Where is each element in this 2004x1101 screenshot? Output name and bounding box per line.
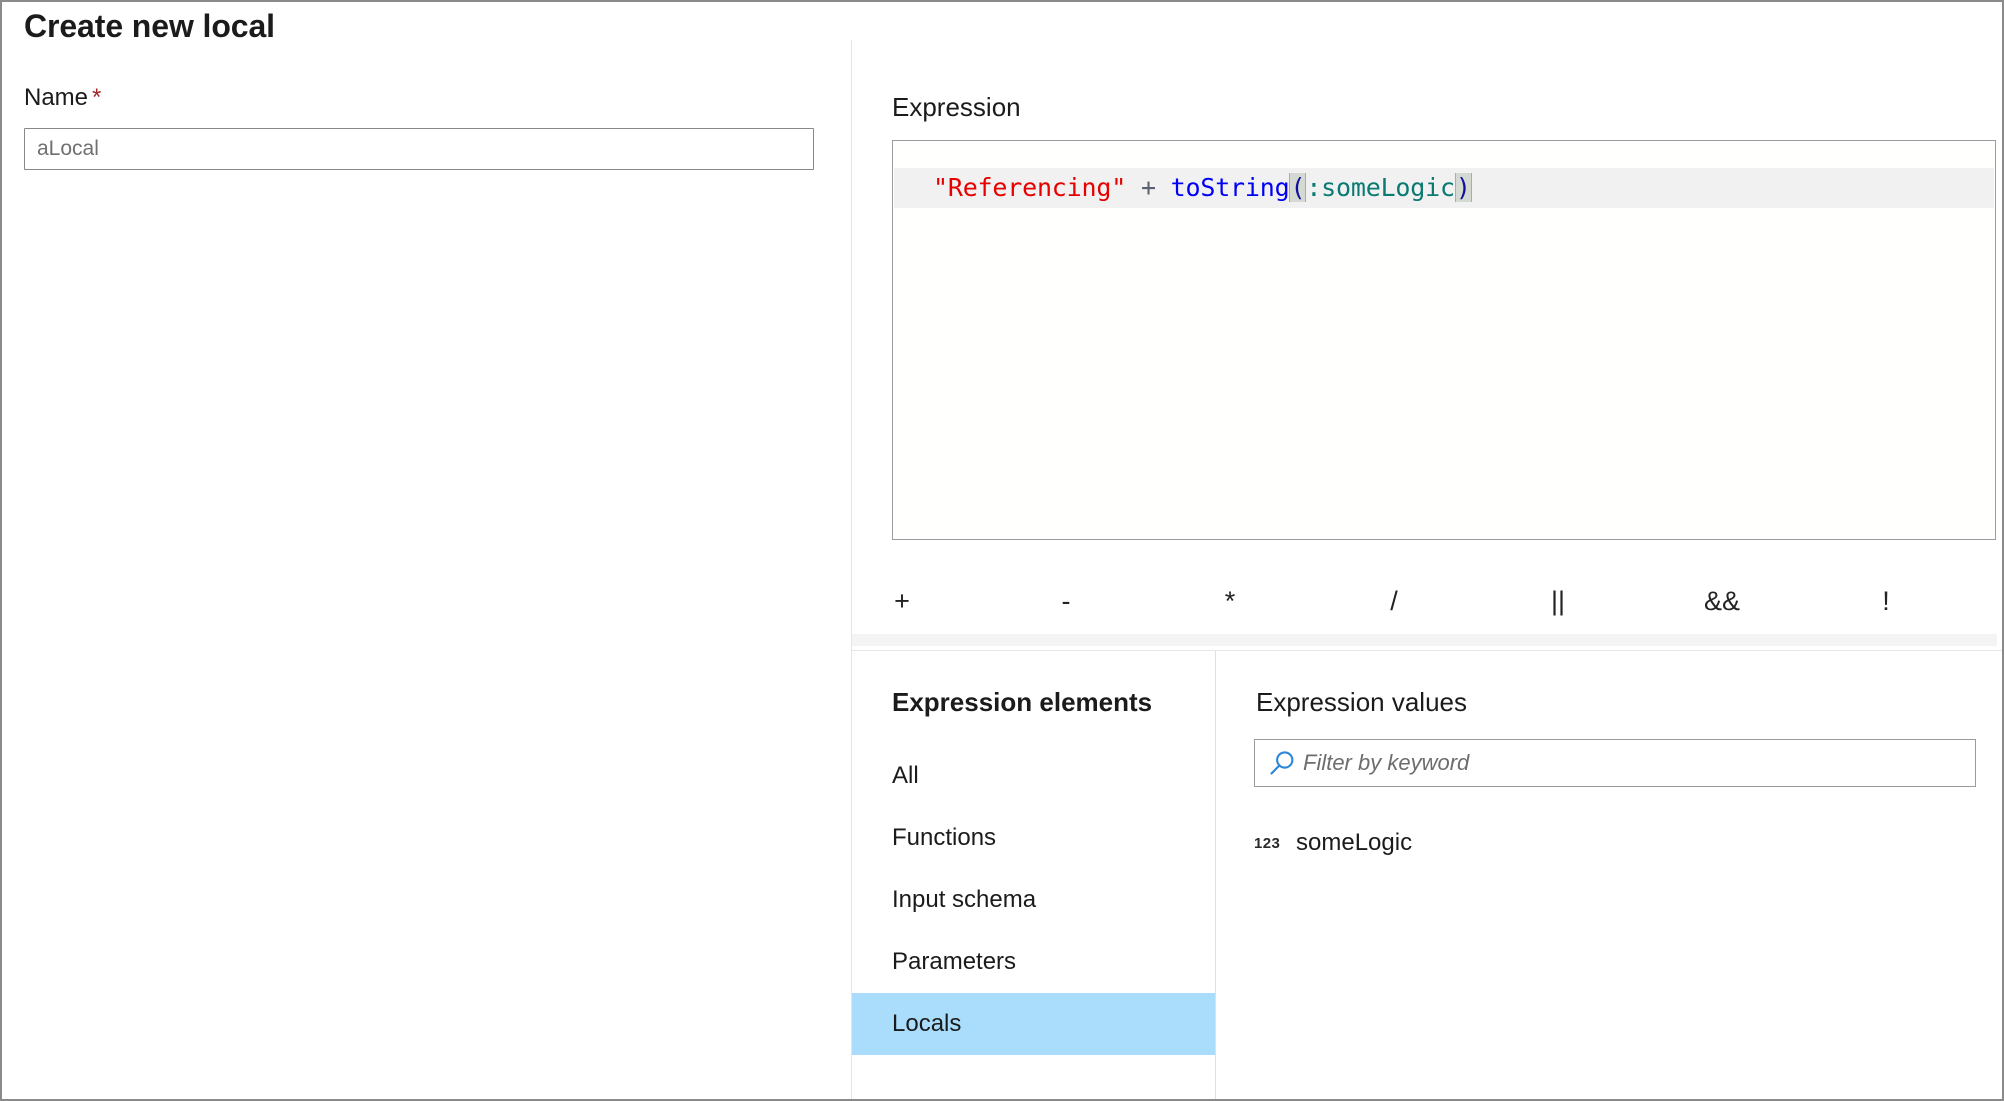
expression-element-item-functions[interactable]: Functions — [852, 807, 1215, 869]
filter-input[interactable] — [1303, 750, 1975, 776]
expression-builder-pane: Expression "Referencing" + toString(:som… — [852, 40, 2004, 1101]
create-new-local-dialog: Create new local Name* Expression "Refer… — [0, 0, 2004, 1101]
expression-editor[interactable]: "Referencing" + toString(:someLogic) — [892, 140, 1996, 540]
code-token-bracket-5: ( — [1289, 173, 1306, 202]
expression-element-item-all[interactable]: All — [852, 745, 1215, 807]
code-token-plain-1 — [1126, 173, 1141, 202]
code-token-bracket-7: ) — [1455, 173, 1472, 202]
code-token-identifier-6: :someLogic — [1306, 173, 1455, 202]
operator-row: +-*/||&&!^=====<=> — [852, 568, 2004, 634]
name-input[interactable] — [24, 128, 814, 170]
name-label-text: Name — [24, 84, 88, 111]
code-token-plain-3 — [1156, 173, 1171, 202]
code-token-string-0: "Referencing" — [933, 173, 1126, 202]
operator-button[interactable]: * — [1202, 575, 1258, 627]
number-type-icon: 123 — [1254, 835, 1296, 852]
left-form-pane: Name* — [2, 42, 851, 1099]
name-field-label: Name* — [24, 84, 101, 112]
code-token-operator-2: + — [1141, 173, 1156, 202]
expression-values-heading: Expression values — [1256, 687, 1467, 718]
expression-values-panel: Expression values 123someLogic — [1216, 651, 2004, 1101]
code-token-function-4: toString — [1171, 173, 1290, 202]
search-icon — [1267, 748, 1297, 778]
operator-button[interactable]: || — [1530, 575, 1586, 627]
filter-search-box[interactable] — [1254, 739, 1976, 787]
elements-values-split: Expression elements AllFunctionsInput sc… — [852, 651, 2004, 1101]
expression-elements-panel: Expression elements AllFunctionsInput sc… — [852, 651, 1216, 1101]
operator-button[interactable]: + — [874, 575, 930, 627]
operator-toolbar[interactable]: +-*/||&&!^=====<=> — [852, 568, 2004, 634]
expression-value-label: someLogic — [1296, 829, 1412, 857]
expression-code[interactable]: "Referencing" + toString(:someLogic) — [933, 169, 1472, 207]
expression-values-list: 123someLogic — [1216, 817, 2004, 869]
expression-value-item[interactable]: 123someLogic — [1216, 817, 2004, 869]
expression-heading: Expression — [892, 92, 1021, 123]
operator-button[interactable]: && — [1694, 575, 1750, 627]
operator-scrollbar-track[interactable] — [852, 634, 1997, 646]
expression-element-item-input-schema[interactable]: Input schema — [852, 869, 1215, 931]
operator-button[interactable]: / — [1366, 575, 1422, 627]
expression-elements-heading: Expression elements — [892, 687, 1152, 718]
operator-button[interactable]: ! — [1858, 575, 1914, 627]
expression-element-item-parameters[interactable]: Parameters — [852, 931, 1215, 993]
required-asterisk: * — [92, 84, 101, 111]
expression-elements-list: AllFunctionsInput schemaParametersLocals — [852, 745, 1215, 1055]
expression-element-item-locals[interactable]: Locals — [852, 993, 1215, 1055]
operator-button[interactable]: - — [1038, 575, 1094, 627]
page-title: Create new local — [24, 8, 275, 45]
